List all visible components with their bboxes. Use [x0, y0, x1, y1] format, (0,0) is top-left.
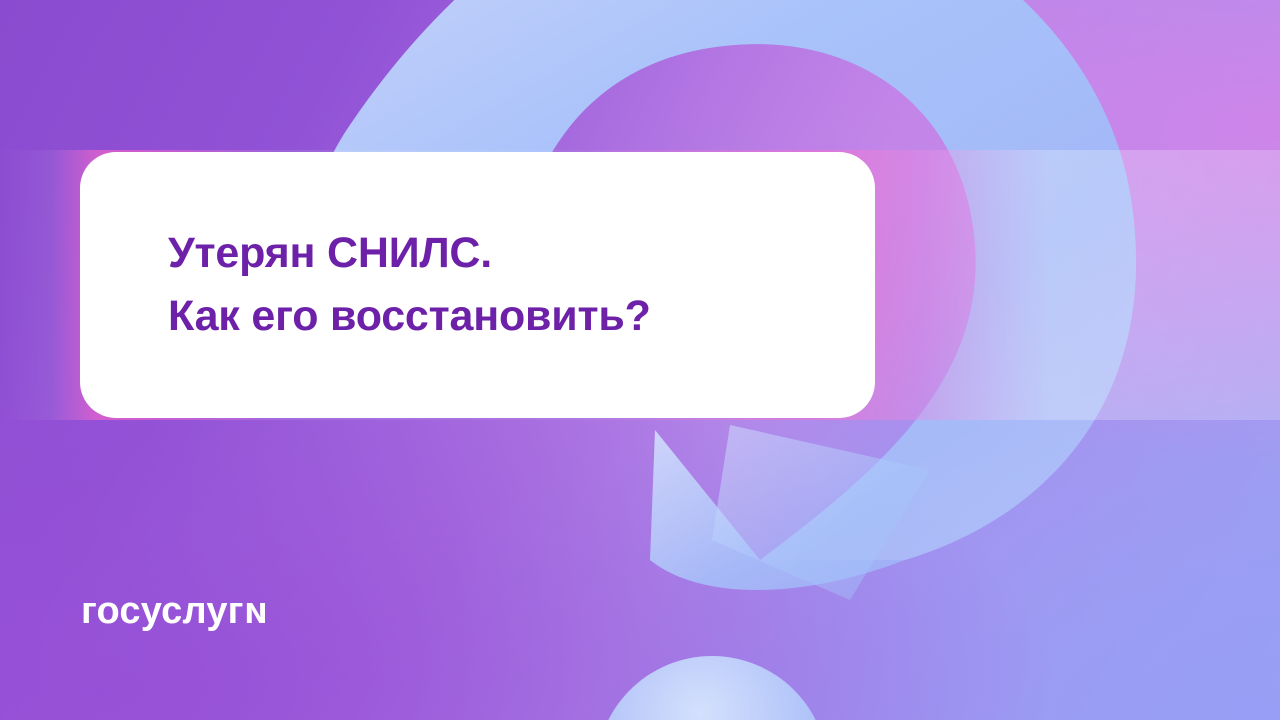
headline-line-1: Утерян СНИЛС. [168, 222, 875, 285]
banner-root: Утерян СНИЛС. Как его восстановить? госу… [0, 0, 1280, 720]
headline-line-2: Как его восстановить? [168, 285, 875, 348]
logo-text-main: госуслуг [81, 592, 244, 630]
logo-text-flipped: и [244, 592, 268, 630]
headline-card: Утерян СНИЛС. Как его восстановить? [80, 152, 875, 418]
gosuslugi-logo[interactable]: госуслуги [81, 592, 267, 630]
